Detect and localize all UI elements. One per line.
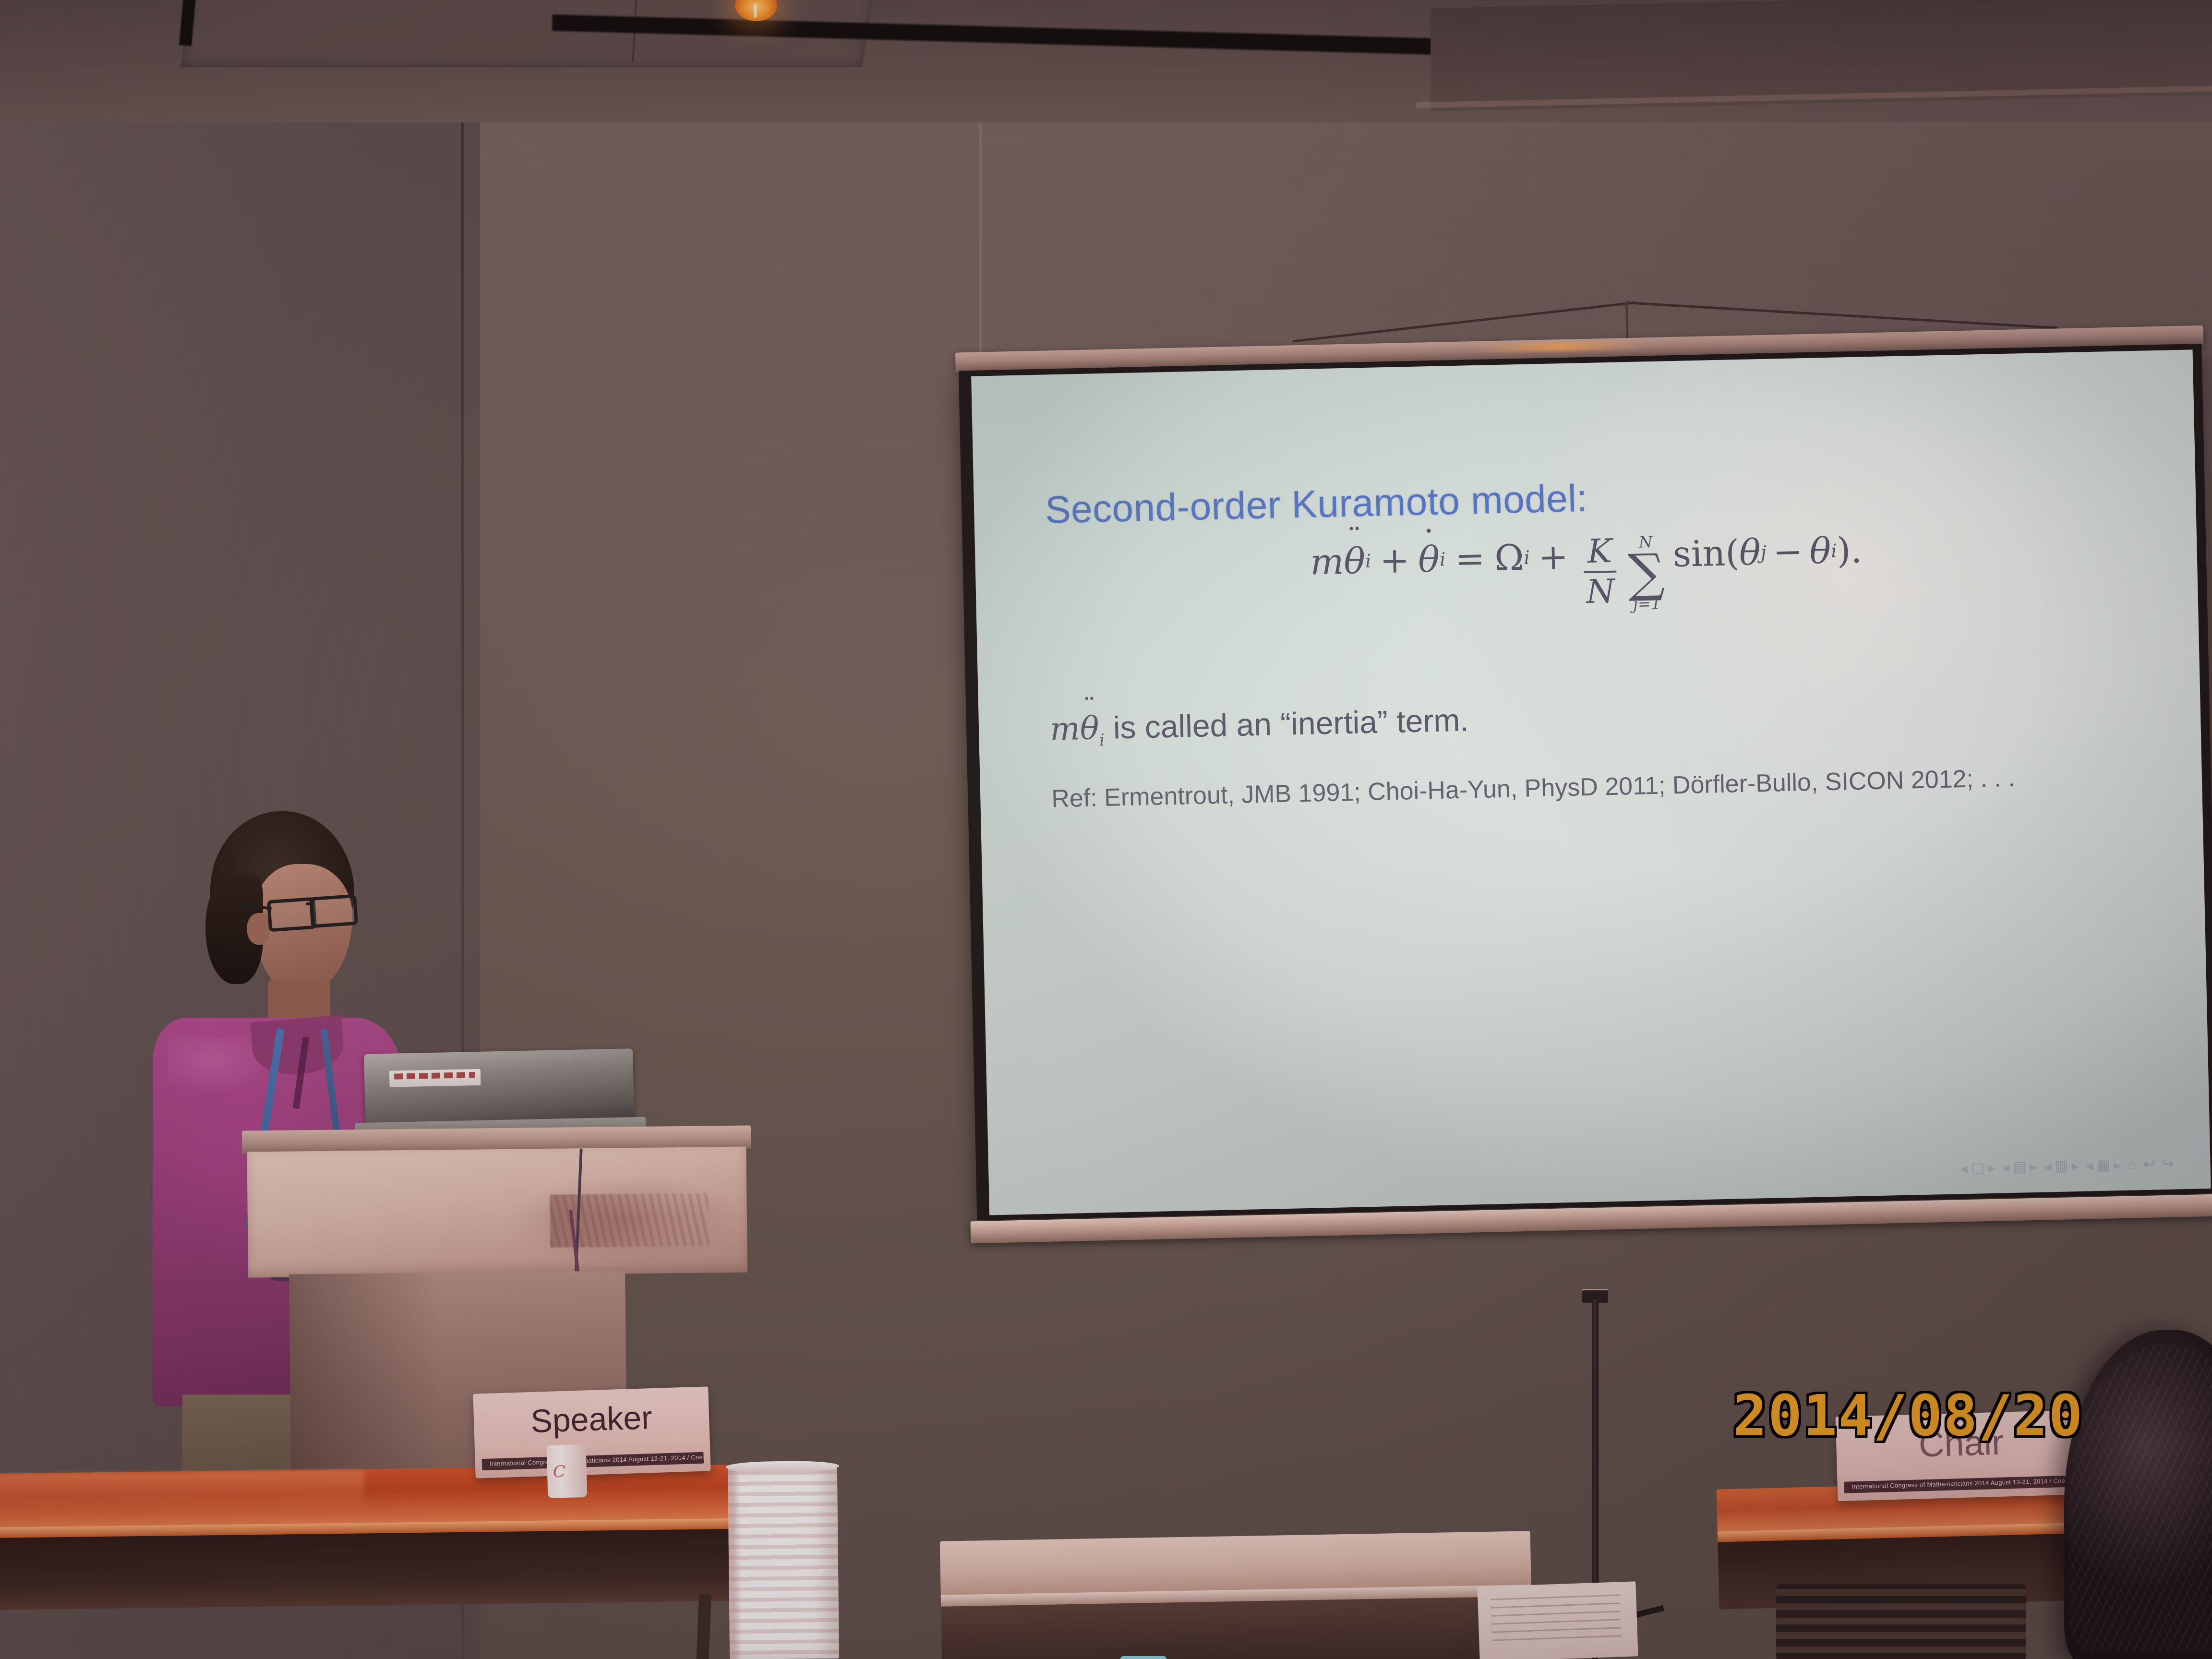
paper-cup-logo: C — [553, 1462, 581, 1479]
eq-mass-symbol: m — [1310, 541, 1344, 583]
eq-theta-dot-sub: i — [1439, 549, 1445, 570]
nav-section-icon[interactable]: ▥ — [2055, 1159, 2068, 1174]
eq-coupling-fraction: K N — [1583, 535, 1617, 609]
eq-frac-numerator: K — [1585, 535, 1614, 568]
conference-room-photo: Second-order Kuramoto model: m θ i + θ — [0, 0, 2212, 1659]
eq-plus-1: + — [1379, 540, 1410, 581]
front-table-left — [0, 1464, 769, 1659]
screen-surface: Second-order Kuramoto model: m θ i + θ — [971, 349, 2211, 1215]
screen-frame: Second-order Kuramoto model: m θ i + θ — [959, 344, 2212, 1220]
projection-screen[interactable]: Second-order Kuramoto model: m θ i + θ — [955, 294, 2212, 1276]
nav-part-icon[interactable]: ▦ — [2096, 1158, 2110, 1173]
eq-minus: − — [1773, 531, 1803, 573]
table-left-leg — [695, 1593, 711, 1659]
camera-date-stamp: 2014/08/20 — [1733, 1382, 2083, 1449]
nav-back-icon[interactable]: ↩ — [2143, 1157, 2155, 1172]
stack-of-paper-cups — [728, 1464, 839, 1659]
projected-slide: Second-order Kuramoto model: m θ i + θ — [971, 349, 2211, 1215]
nav-forward-icon[interactable]: ↪ — [2162, 1157, 2174, 1172]
table-left-apron — [0, 1528, 769, 1610]
nav-next-part-icon[interactable]: ▶ — [2113, 1159, 2121, 1171]
eq-close-paren: ). — [1837, 529, 1863, 571]
nameplate-speaker-label: Speaker — [473, 1397, 709, 1442]
eq-sum-lower-limit: j=1 — [1633, 596, 1661, 613]
eq-plus-2: + — [1538, 536, 1569, 578]
nav-prev-section-icon[interactable]: ◀ — [2044, 1161, 2052, 1173]
glasses-right-lens — [309, 894, 358, 928]
nav-prev-frame-icon[interactable]: ◀ — [1960, 1162, 1968, 1174]
eq-theta-j: θ — [1739, 532, 1761, 574]
bottle-cap — [1120, 1656, 1166, 1659]
inertia-theta-symbol: θ — [1080, 709, 1099, 747]
nav-frame-icon[interactable]: ▢ — [1971, 1161, 1985, 1176]
chair-backrest-right — [1776, 1584, 2026, 1659]
nav-prev-slide-icon[interactable]: ◀ — [2002, 1162, 2009, 1174]
water-bottle-group — [974, 1488, 1310, 1659]
eq-theta-dot: θ — [1418, 539, 1440, 581]
slide-title: Second-order Kuramoto model: — [1045, 476, 1588, 532]
nameplate-speaker: Speaker International Congress of Mathem… — [473, 1386, 710, 1478]
eq-summation: N ∑ j=1 — [1627, 534, 1665, 612]
eq-frac-denominator: N — [1584, 576, 1617, 609]
handout-text-lines — [1490, 1594, 1621, 1643]
nav-group-frame[interactable]: ◀ ▢ ▶ — [1960, 1161, 1996, 1176]
eq-equals: = — [1455, 538, 1485, 580]
eq-theta-ddot: θ — [1344, 541, 1366, 582]
eq-theta-i-sub: i — [1831, 540, 1837, 562]
eq-theta-i: θ — [1809, 530, 1831, 572]
eq-theta-j-sub: j — [1760, 541, 1767, 563]
inertia-mass-symbol: m — [1049, 710, 1080, 747]
nav-next-frame-icon[interactable]: ▶ — [1988, 1162, 1996, 1174]
slide-reference-line: Ref: Ermentrout, JMB 1991; Choi-Ha-Yun, … — [1051, 759, 2137, 816]
slide-equation: m θ i + θ i = — [975, 522, 2198, 626]
table-left-reflection — [0, 1470, 364, 1516]
nav-next-section-icon[interactable]: ▶ — [2071, 1160, 2079, 1172]
nav-group-part[interactable]: ◀ ▦ ▶ — [2086, 1158, 2121, 1173]
slide-inertia-line: mθi is called an “inertia” term. — [1049, 701, 1469, 751]
eq-omega: Ω — [1494, 537, 1524, 579]
eq-sum-sigma: ∑ — [1627, 550, 1665, 597]
beamer-navigation-bar[interactable]: ◀ ▢ ▶ ◀ ▤ ▶ ◀ ▥ ▶ — [1960, 1157, 2174, 1176]
nav-next-slide-icon[interactable]: ▶ — [2030, 1161, 2037, 1173]
screen-hanger-right — [1626, 301, 2058, 329]
nav-group-section[interactable]: ◀ ▥ ▶ — [2044, 1159, 2080, 1174]
screen-hanger-center-post — [1625, 301, 1629, 342]
nav-home-icon[interactable]: ⌂ — [2128, 1157, 2137, 1172]
ceiling-light-filament — [754, 4, 757, 17]
inertia-text: is called an “inertia” term. — [1104, 702, 1469, 745]
presenter-ear — [247, 913, 270, 945]
eq-omega-sub: i — [1524, 547, 1530, 568]
nav-prev-part-icon[interactable]: ◀ — [2086, 1160, 2093, 1172]
nav-group-slide[interactable]: ◀ ▤ ▶ — [2002, 1160, 2037, 1175]
eq-theta-ddot-sub: i — [1365, 550, 1371, 572]
eq-sin-open: sin( — [1672, 532, 1740, 575]
cup-stack-body — [728, 1464, 839, 1659]
nav-slide-icon[interactable]: ▤ — [2013, 1160, 2027, 1175]
laptop-lid — [364, 1048, 634, 1126]
